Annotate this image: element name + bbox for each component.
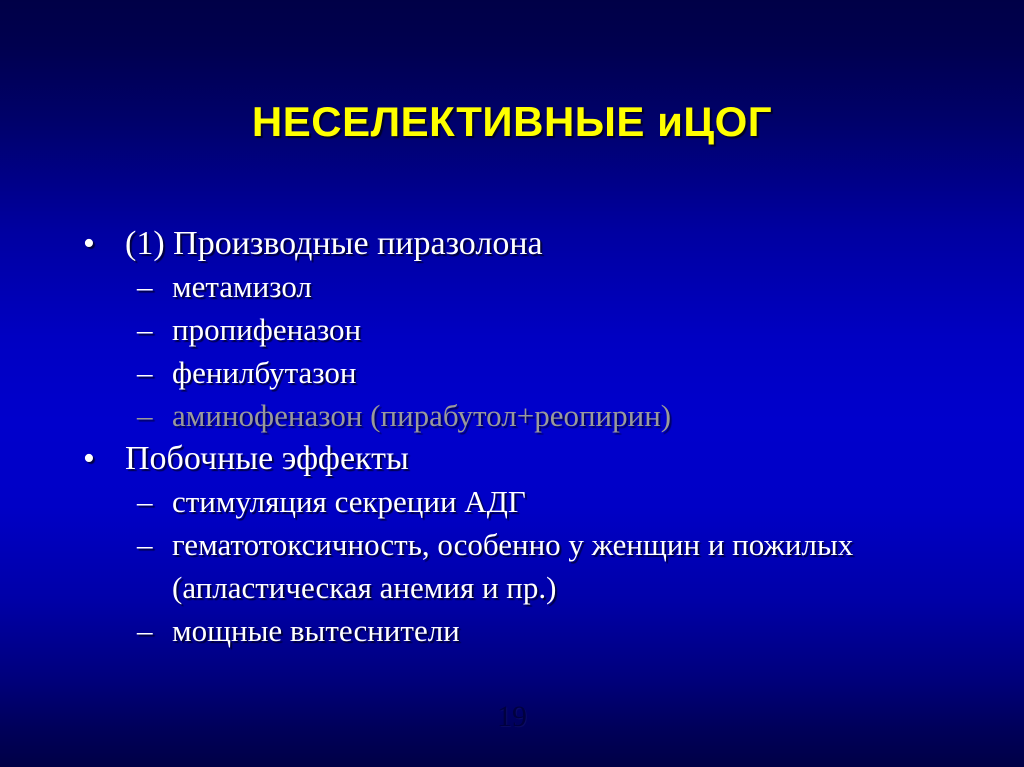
dash-icon: –	[137, 265, 153, 308]
bullet-icon: •	[83, 437, 117, 480]
list-item: • Побочные эффекты	[0, 437, 1024, 480]
list-item-label: (1) Производные пиразолона	[125, 225, 543, 262]
list-item-label: стимуляция секреции АДГ	[172, 484, 526, 519]
bullet-icon: •	[83, 222, 117, 265]
dash-icon: –	[137, 523, 153, 566]
list-item-label: мощные вытеснители	[172, 613, 460, 648]
slide-title: НЕСЕЛЕКТИВНЫЕ иЦОГ	[0, 98, 1024, 146]
list-item-label: пропифеназон	[172, 312, 361, 347]
list-item: – аминофеназон (пирабутол+реопирин)	[0, 394, 1024, 437]
list-item: • (1) Производные пиразолона	[0, 222, 1024, 265]
list-item: – метамизол	[0, 265, 1024, 308]
list-item: – стимуляция секреции АДГ	[0, 480, 1024, 523]
page-number: 19	[0, 700, 1024, 734]
presentation-slide: НЕСЕЛЕКТИВНЫЕ иЦОГ • (1) Производные пир…	[0, 0, 1024, 767]
dash-icon: –	[137, 609, 153, 652]
dash-icon: –	[137, 394, 153, 437]
list-item-label: фенилбутазон	[172, 355, 356, 390]
dash-icon: –	[137, 480, 153, 523]
list-item: – мощные вытеснители	[0, 609, 1024, 652]
dash-icon: –	[137, 351, 153, 394]
list-item-label: Побочные эффекты	[125, 440, 409, 477]
slide-content-list: • (1) Производные пиразолона – метамизол…	[0, 222, 1024, 682]
list-item-label: метамизол	[172, 269, 312, 304]
list-item-label: гематотоксичность, особенно у женщин и п…	[172, 527, 853, 605]
dash-icon: –	[137, 308, 153, 351]
list-item: – фенилбутазон	[0, 351, 1024, 394]
list-item-label: аминофеназон (пирабутол+реопирин)	[172, 398, 671, 433]
list-item: – гематотоксичность, особенно у женщин и…	[0, 523, 1024, 609]
list-item: – пропифеназон	[0, 308, 1024, 351]
